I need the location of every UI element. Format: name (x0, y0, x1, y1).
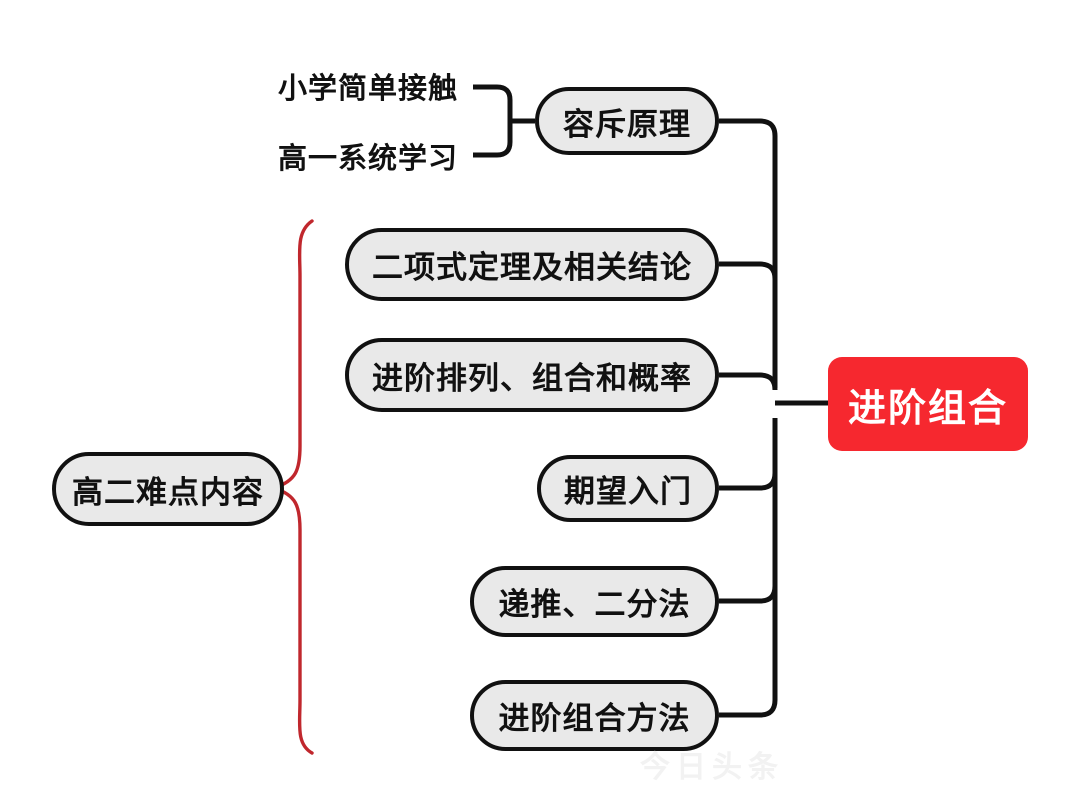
branch-node-permutation[interactable]: 进阶排列、组合和概率 (345, 338, 719, 412)
group-node-gaoer[interactable]: 高二难点内容 (52, 452, 284, 526)
mindmap-canvas: 进阶组合 容斥原理 小学简单接触 高一系统学习 二项式定理及相关结论 进阶排列、… (0, 0, 1080, 806)
branch-node-recursion-label: 递推、二分法 (499, 579, 691, 624)
leaf-label-xiaoxue: 小学简单接触 (278, 64, 458, 108)
branch-node-binomial-label: 二项式定理及相关结论 (372, 242, 692, 287)
leaf-label-gaoyi-text: 高一系统学习 (278, 135, 458, 177)
branch-node-methods[interactable]: 进阶组合方法 (470, 680, 719, 751)
connector-binomial (719, 264, 775, 279)
branch-node-rongchi-label: 容斥原理 (563, 99, 691, 144)
branch-node-recursion[interactable]: 递推、二分法 (470, 566, 719, 637)
connector-recursion (719, 586, 775, 601)
leaf-label-gaoyi: 高一系统学习 (278, 134, 458, 178)
branch-node-expectation[interactable]: 期望入门 (537, 455, 719, 522)
connector-permutation (719, 375, 775, 390)
branch-node-rongchi[interactable]: 容斥原理 (535, 87, 719, 155)
connector-expectation (719, 473, 775, 488)
connector-rongchi (719, 121, 775, 388)
root-node-advanced-combinatorics[interactable]: 进阶组合 (828, 357, 1028, 451)
branch-node-binomial[interactable]: 二项式定理及相关结论 (345, 228, 719, 301)
group-node-gaoer-label: 高二难点内容 (72, 467, 264, 512)
leaf-label-xiaoxue-text: 小学简单接触 (278, 65, 458, 107)
connector-methods (719, 700, 775, 715)
branch-node-methods-label: 进阶组合方法 (499, 693, 691, 738)
branch-node-expectation-label: 期望入门 (564, 466, 692, 511)
branch-node-permutation-label: 进阶排列、组合和概率 (372, 353, 692, 398)
root-node-label: 进阶组合 (848, 377, 1008, 432)
connector-rongchi-bracket (473, 87, 510, 155)
